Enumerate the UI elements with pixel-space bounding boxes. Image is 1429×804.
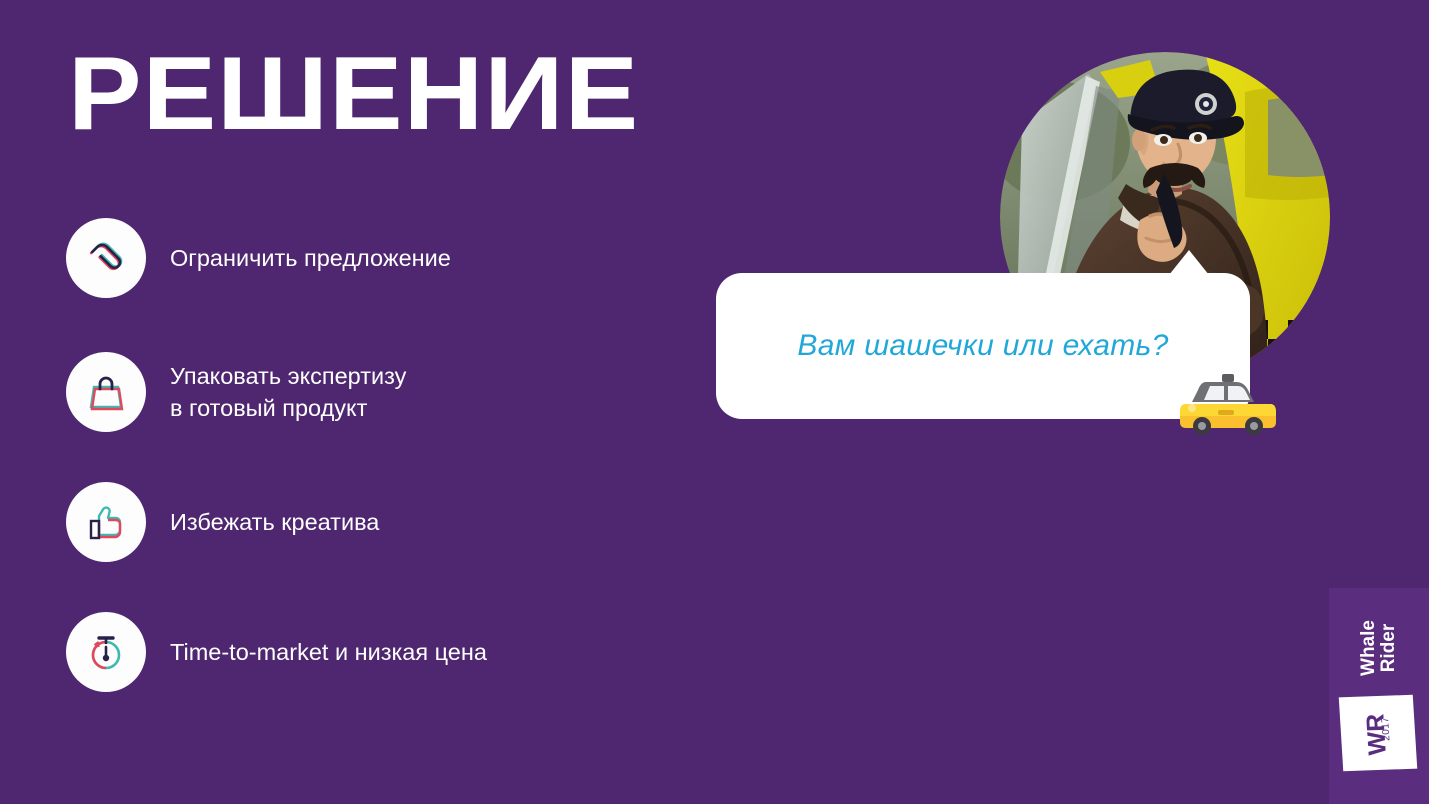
logo-line-1: Whale xyxy=(1359,592,1379,704)
logo-line-2: Rider xyxy=(1379,592,1399,704)
shopping-bag-icon xyxy=(66,352,146,432)
page-title: РЕШЕНИЕ xyxy=(68,42,639,146)
thumbs-up-icon xyxy=(66,482,146,562)
whale-rider-logo: Whale Rider WR 2017 xyxy=(1329,588,1429,804)
slide-root: РЕШЕНИЕ Ограничить предложение xyxy=(0,0,1429,804)
list-item[interactable]: Time-to-market и низкая цена xyxy=(66,612,487,692)
taxi-emoji xyxy=(1178,372,1278,436)
paperclip-icon xyxy=(66,218,146,298)
stopwatch-icon xyxy=(66,612,146,692)
speech-bubble-text: Вам шашечки или ехать? xyxy=(716,273,1250,419)
list-item-label: Ограничить предложение xyxy=(170,242,451,274)
logo-wordmark: Whale Rider xyxy=(1359,592,1399,704)
list-item[interactable]: Ограничить предложение xyxy=(66,218,451,298)
list-item-label: Time-to-market и низкая цена xyxy=(170,636,487,668)
speech-bubble: Вам шашечки или ехать? xyxy=(716,273,1250,419)
list-item-label: Упаковать экспертизу в готовый продукт xyxy=(170,360,406,424)
list-item[interactable]: Упаковать экспертизу в готовый продукт xyxy=(66,352,406,432)
list-item[interactable]: Избежать креатива xyxy=(66,482,379,562)
list-item-label: Избежать креатива xyxy=(170,506,379,538)
wr-badge: WR 2017 xyxy=(1339,695,1417,771)
